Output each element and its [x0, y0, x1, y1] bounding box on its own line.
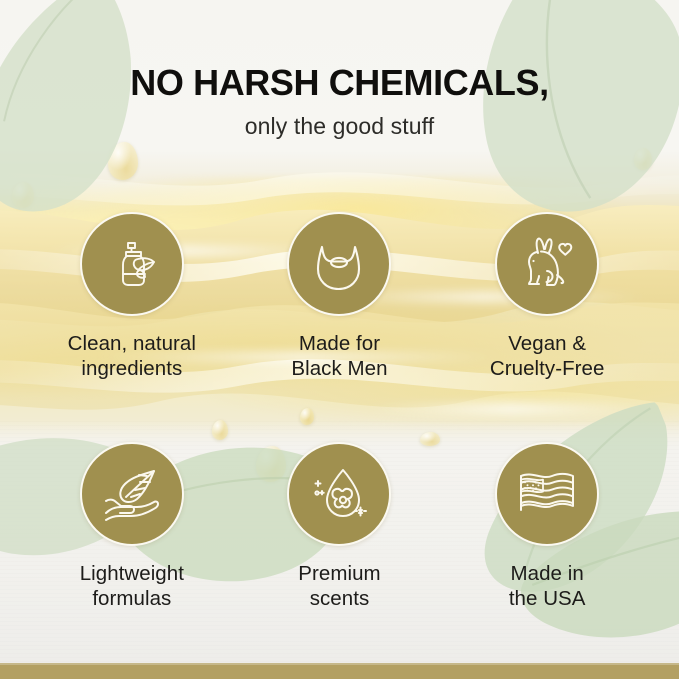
feature-item-premium-scents: Premium scents — [236, 442, 444, 612]
feature-item-clean-natural-ingredients: Clean, natural ingredients — [28, 212, 236, 382]
droplet-flower-icon — [287, 442, 391, 546]
feature-label: Vegan & Cruelty-Free — [490, 331, 605, 382]
feature-label: Made in the USA — [509, 561, 586, 612]
dropper-bottle-leaf-icon — [80, 212, 184, 316]
beard-icon — [287, 212, 391, 316]
feature-item-vegan-cruelty-free: Vegan & Cruelty-Free — [443, 212, 651, 382]
rabbit-heart-icon — [495, 212, 599, 316]
page-subtitle: only the good stuff — [0, 113, 679, 140]
usa-flag-icon — [495, 442, 599, 546]
bottom-gold-bar — [0, 663, 679, 679]
feature-label: Clean, natural ingredients — [68, 331, 196, 382]
hand-feather-icon — [80, 442, 184, 546]
page-title: NO HARSH CHEMICALS, — [0, 64, 679, 102]
feature-grid: Clean, natural ingredients Made for Blac… — [0, 212, 679, 612]
feature-label: Made for Black Men — [291, 331, 387, 382]
feature-item-made-for-black-men: Made for Black Men — [236, 212, 444, 382]
headline-block: NO HARSH CHEMICALS, only the good stuff — [0, 64, 679, 140]
feature-label: Lightweight formulas — [80, 561, 184, 612]
promo-banner: NO HARSH CHEMICALS, only the good stuff … — [0, 0, 679, 679]
feature-item-made-in-the-usa: Made in the USA — [443, 442, 651, 612]
feature-label: Premium scents — [298, 561, 380, 612]
feature-item-lightweight-formulas: Lightweight formulas — [28, 442, 236, 612]
